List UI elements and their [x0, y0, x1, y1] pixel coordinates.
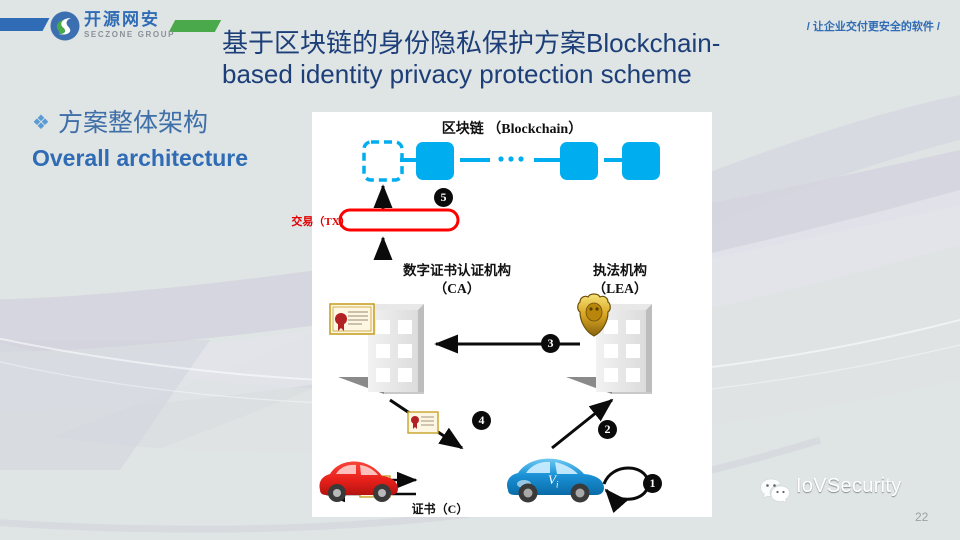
section-heading-cn-row: ❖方案整体架构	[32, 105, 312, 141]
lea-building-group	[566, 304, 652, 394]
brand-logo: 开源网安 SECZONE GROUP	[50, 10, 170, 44]
page-title-line2: based identity privacy protection scheme	[222, 59, 822, 90]
blockchain-blocks	[364, 142, 660, 180]
header-accent-bar-green	[169, 20, 221, 32]
slide-canvas: 开源网安 SECZONE GROUP / 让企业交付更安全的软件 / 基于区块链…	[0, 0, 960, 540]
wechat-account-name: IoVSecurity	[796, 475, 902, 498]
red-car-icon	[319, 462, 398, 503]
step-badge-5: 5	[434, 188, 453, 207]
vehicle-label-letter: V	[548, 472, 556, 487]
ca-label: 数字证书认证机构 （CA）	[372, 262, 542, 298]
logo-text-cn: 开源网安	[84, 10, 160, 30]
ca-label-en: （CA）	[372, 280, 542, 298]
lea-label-cn: 执法机构	[550, 262, 690, 280]
brand-tagline: / 让企业交付更安全的软件 /	[807, 18, 940, 34]
architecture-diagram	[312, 112, 712, 517]
section-heading-en: Overall architecture	[32, 141, 312, 175]
lea-label: 执法机构 （LEA）	[550, 262, 690, 298]
page-number: 22	[915, 510, 928, 524]
vehicle-label: Vi	[548, 472, 558, 490]
logo-text-en: SECZONE GROUP	[84, 30, 175, 39]
header-accent-bar-blue	[0, 18, 49, 31]
step-badge-2: 2	[598, 420, 617, 439]
certificate-icon-step4	[408, 412, 438, 433]
section-heading-cn: 方案整体架构	[58, 109, 208, 137]
seczone-logo-icon	[50, 11, 80, 41]
ca-label-cn: 数字证书认证机构	[372, 262, 542, 280]
section-heading: ❖方案整体架构 Overall architecture	[32, 105, 312, 175]
step-badge-3: 3	[541, 334, 560, 353]
arrow-step1-selfloop	[604, 468, 648, 499]
certificate-icon-ca	[330, 304, 374, 334]
page-title-line1: 基于区块链的身份隐私保护方案Blockchain-	[222, 28, 822, 59]
page-title: 基于区块链的身份隐私保护方案Blockchain- based identity…	[222, 28, 822, 90]
step-badge-4: 4	[472, 411, 491, 430]
vehicle-label-subscript: i	[556, 480, 559, 490]
diamond-bullet-icon: ❖	[32, 105, 50, 141]
certificate-label: 证书（C）	[380, 500, 500, 517]
lea-label-en: （LEA）	[550, 280, 690, 298]
wechat-icon	[760, 478, 790, 504]
diagram-panel: 区块链 （Blockchain）	[312, 112, 712, 517]
wechat-account: IoVSecurity	[760, 476, 950, 510]
transaction-label: 交易（TX）	[246, 213, 396, 229]
step-badge-1: 1	[643, 474, 662, 493]
